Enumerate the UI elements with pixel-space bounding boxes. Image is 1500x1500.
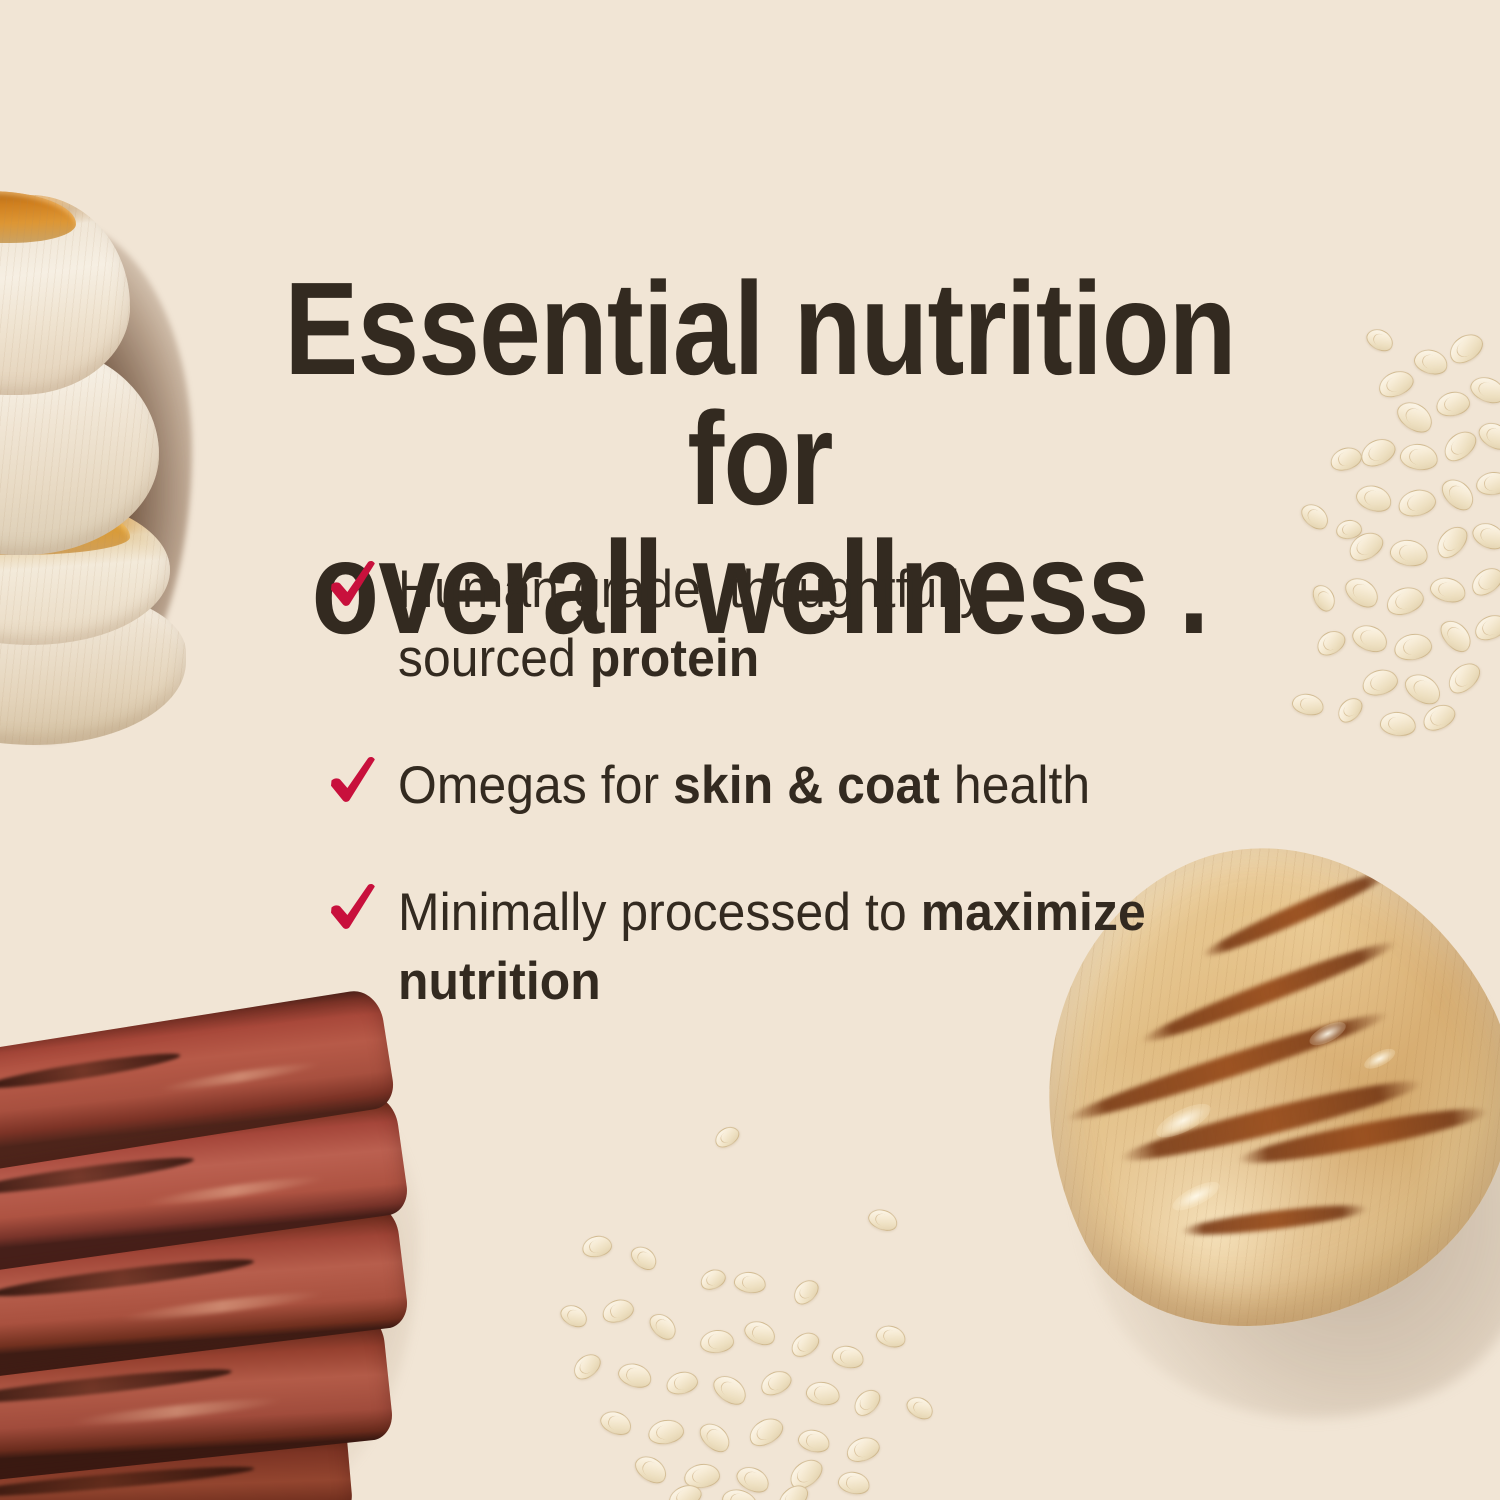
benefit-text: Human grade, thoughtfully sourced protei…	[398, 556, 1169, 694]
benefits-list: Human grade, thoughtfully sourced protei…	[330, 556, 1230, 1016]
check-icon	[330, 883, 376, 935]
promo-image-canvas: Essential nutrition for overall wellness…	[0, 0, 1500, 1500]
check-icon	[330, 560, 376, 612]
list-item: Human grade, thoughtfully sourced protei…	[330, 556, 1230, 694]
text-content-layer: Essential nutrition for overall wellness…	[0, 0, 1500, 1500]
benefit-text: Omegas for skin & coat health	[398, 752, 1090, 821]
list-item: Minimally processed to maximize nutritio…	[330, 879, 1230, 1017]
list-item: Omegas for skin & coat health	[330, 752, 1230, 821]
check-icon	[330, 756, 376, 808]
benefit-text: Minimally processed to maximize nutritio…	[398, 879, 1169, 1017]
